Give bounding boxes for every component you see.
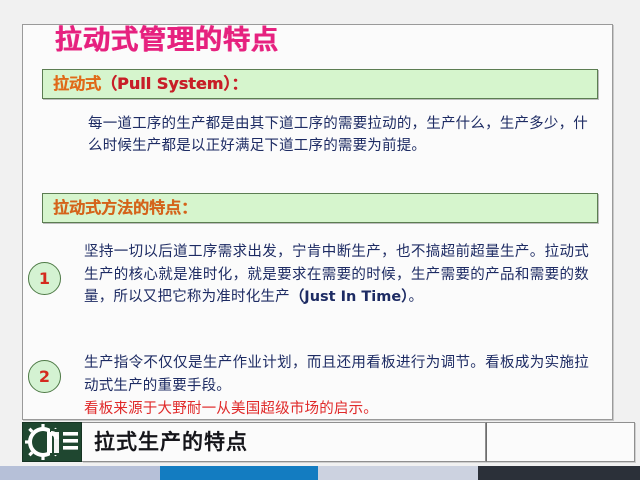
list-marker-2: 2 bbox=[28, 360, 61, 393]
footer-title-cell: 拉式生产的特点 bbox=[82, 422, 486, 462]
strip-accent-blue bbox=[160, 466, 318, 480]
list-item-1-emphasis: （Just In Time） bbox=[290, 289, 409, 305]
list-item-1-tail: 。 bbox=[408, 289, 423, 305]
heading-bar-2-label: 拉动式方法的特点： bbox=[53, 200, 197, 216]
slide-canvas: 拉动式管理的特点 拉动式（Pull System）： 每一道工序的生产都是由其下… bbox=[0, 0, 640, 480]
gear-emblem-svg bbox=[23, 423, 82, 461]
footer-aux-cell bbox=[486, 422, 635, 462]
footer-title: 拉式生产的特点 bbox=[94, 432, 248, 453]
list-marker-1: 1 bbox=[28, 262, 61, 295]
heading-bar-pull-method-features: 拉动式方法的特点： bbox=[42, 193, 598, 223]
list-item: 坚持一切以后道工序需求出发，宁肯中断生产，也不搞超前超量生产。拉动式生产的核心就… bbox=[84, 241, 589, 309]
strip-light-blue-right bbox=[318, 466, 478, 480]
kanban-origin-note: 看板来源于大野耐一从美国超级市场的启示。 bbox=[84, 399, 589, 419]
page-title: 拉动式管理的特点 bbox=[55, 27, 279, 54]
bottom-color-strip bbox=[0, 466, 640, 480]
strip-dark-navy bbox=[478, 466, 640, 480]
list-item-2-text: 生产指令不仅仅是生产作业计划，而且还用看板进行为调节。看板成为实施拉动式生产的重… bbox=[84, 355, 589, 394]
list-item: 生产指令不仅仅是生产作业计划，而且还用看板进行为调节。看板成为实施拉动式生产的重… bbox=[84, 352, 589, 397]
pull-system-description: 每一道工序的生产都是由其下道工序的需要拉动的，生产什么，生产多少，什么时候生产都… bbox=[88, 113, 588, 157]
heading-bar-1-label-en: （Pull System）： bbox=[101, 76, 247, 92]
heading-bar-pull-system: 拉动式（Pull System）： bbox=[42, 69, 598, 99]
company-gear-logo-icon bbox=[22, 422, 82, 462]
heading-bar-1-label-cn: 拉动式 bbox=[53, 76, 101, 92]
strip-light-blue-left bbox=[0, 466, 160, 480]
footer-bar: 拉式生产的特点 bbox=[22, 422, 635, 462]
